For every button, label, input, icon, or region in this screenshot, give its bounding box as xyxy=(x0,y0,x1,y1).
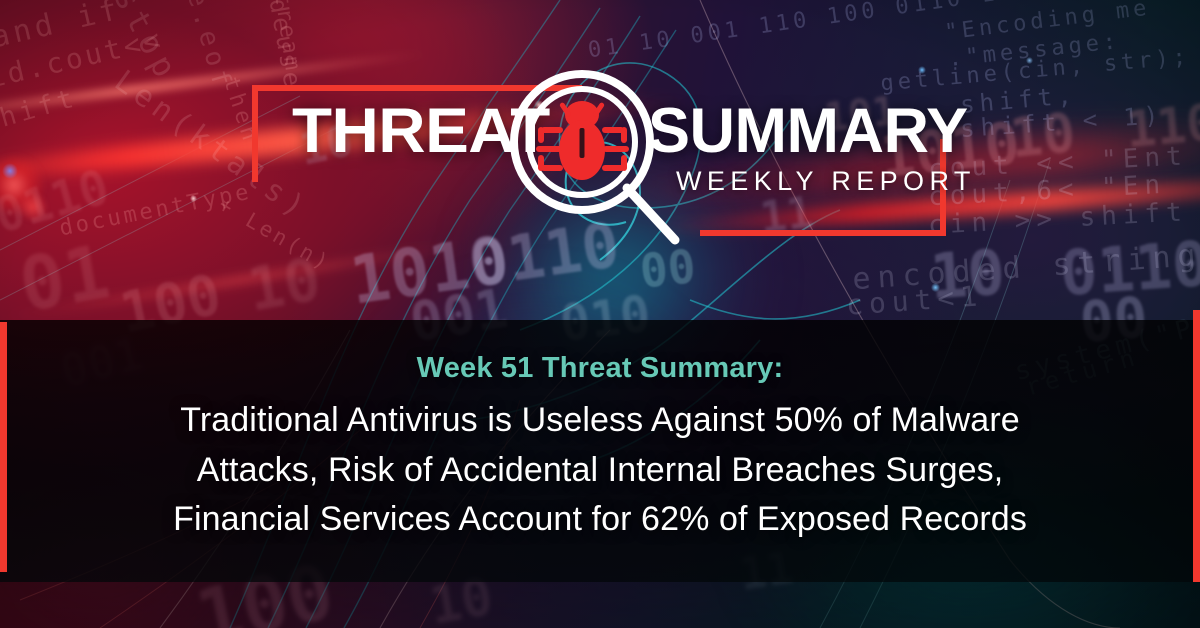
threat-summary-banner: and if id.cout<< stop file.eof encodeuse… xyxy=(0,0,1200,628)
logo-subtitle: WEEKLY REPORT xyxy=(676,166,976,197)
headline-line-1: Traditional Antivirus is Useless Against… xyxy=(0,396,1200,446)
headline-line-2: Attacks, Risk of Accidental Internal Bre… xyxy=(0,446,1200,496)
bug-in-magnifier-icon xyxy=(503,70,703,250)
headline-line-3: Financial Services Account for 62% of Ex… xyxy=(0,495,1200,545)
logo-lockup: THREAT SUMMARY WEEKLY REPORT xyxy=(0,0,1200,320)
footer-band xyxy=(0,582,1200,628)
headline-block: Week 51 Threat Summary: Traditional Anti… xyxy=(0,352,1200,545)
headline-eyebrow: Week 51 Threat Summary: xyxy=(0,352,1200,385)
